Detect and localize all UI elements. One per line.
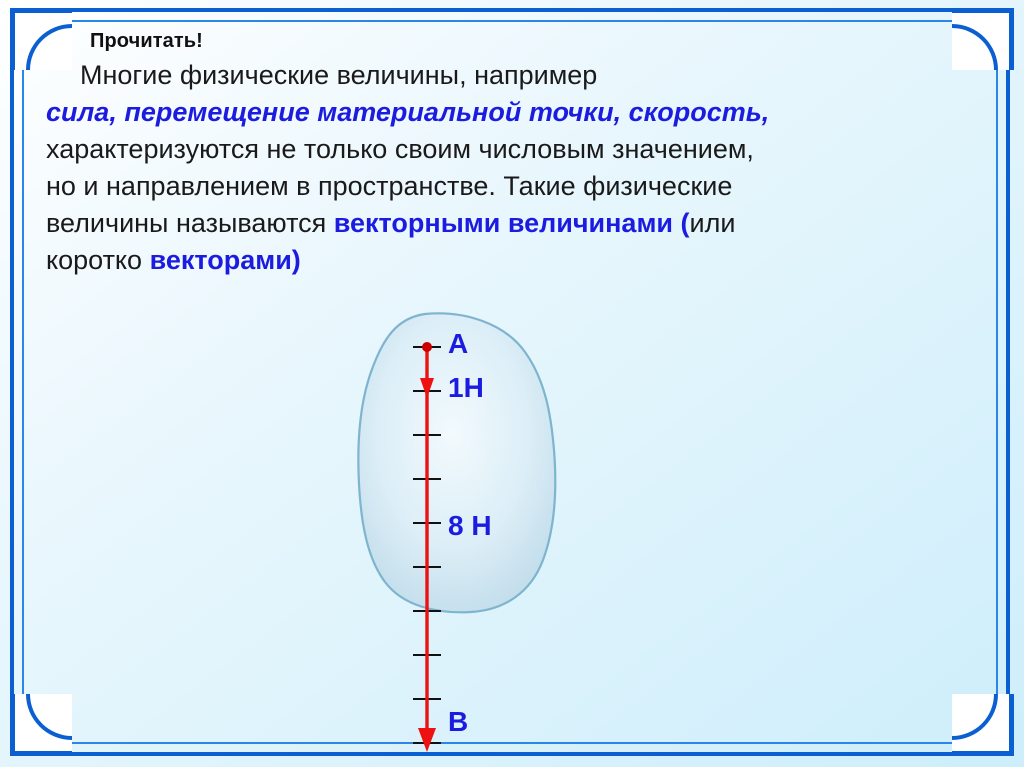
paragraph-line-3: характеризуются не только своим числовым… — [46, 132, 976, 167]
line-2-highlight: сила, перемещение материальной точки, ск… — [46, 97, 769, 127]
line-5-highlight: векторными величинами ( — [334, 208, 690, 238]
line-1-text: Многие физические величины, например — [80, 60, 597, 90]
line-6-highlight: векторами) — [150, 245, 301, 275]
vector-figure: А 1Н 8 Н В — [330, 300, 590, 760]
label-point-b: В — [448, 706, 468, 738]
read-label: Прочитать! — [90, 30, 203, 53]
paragraph-line-5: величины называются векторными величинам… — [46, 206, 976, 241]
body-text: Многие физические величины, например сил… — [46, 58, 976, 281]
paragraph-line-4: но и направлением в пространстве. Такие … — [46, 169, 976, 204]
slide-canvas: Прочитать! Многие физические величины, н… — [0, 0, 1024, 767]
line-4-text: но и направлением в пространстве. Такие … — [46, 171, 732, 201]
label-unit-scale: 1Н — [448, 372, 484, 404]
line-5-text-a: величины называются — [46, 208, 334, 238]
line-5-text-b: или — [690, 208, 736, 238]
label-point-a: А — [448, 328, 468, 360]
vector-arrowhead-b — [418, 728, 436, 752]
paragraph-line-6: коротко векторами) — [46, 243, 976, 278]
paragraph-line-2: сила, перемещение материальной точки, ск… — [46, 95, 976, 130]
label-magnitude: 8 Н — [448, 510, 492, 542]
line-3-text: характеризуются не только своим числовым… — [46, 134, 754, 164]
paragraph-line-1: Многие физические величины, например — [46, 58, 976, 93]
unit-arrowhead — [420, 378, 434, 398]
vector-start-point — [422, 342, 432, 352]
line-6-text-a: коротко — [46, 245, 150, 275]
